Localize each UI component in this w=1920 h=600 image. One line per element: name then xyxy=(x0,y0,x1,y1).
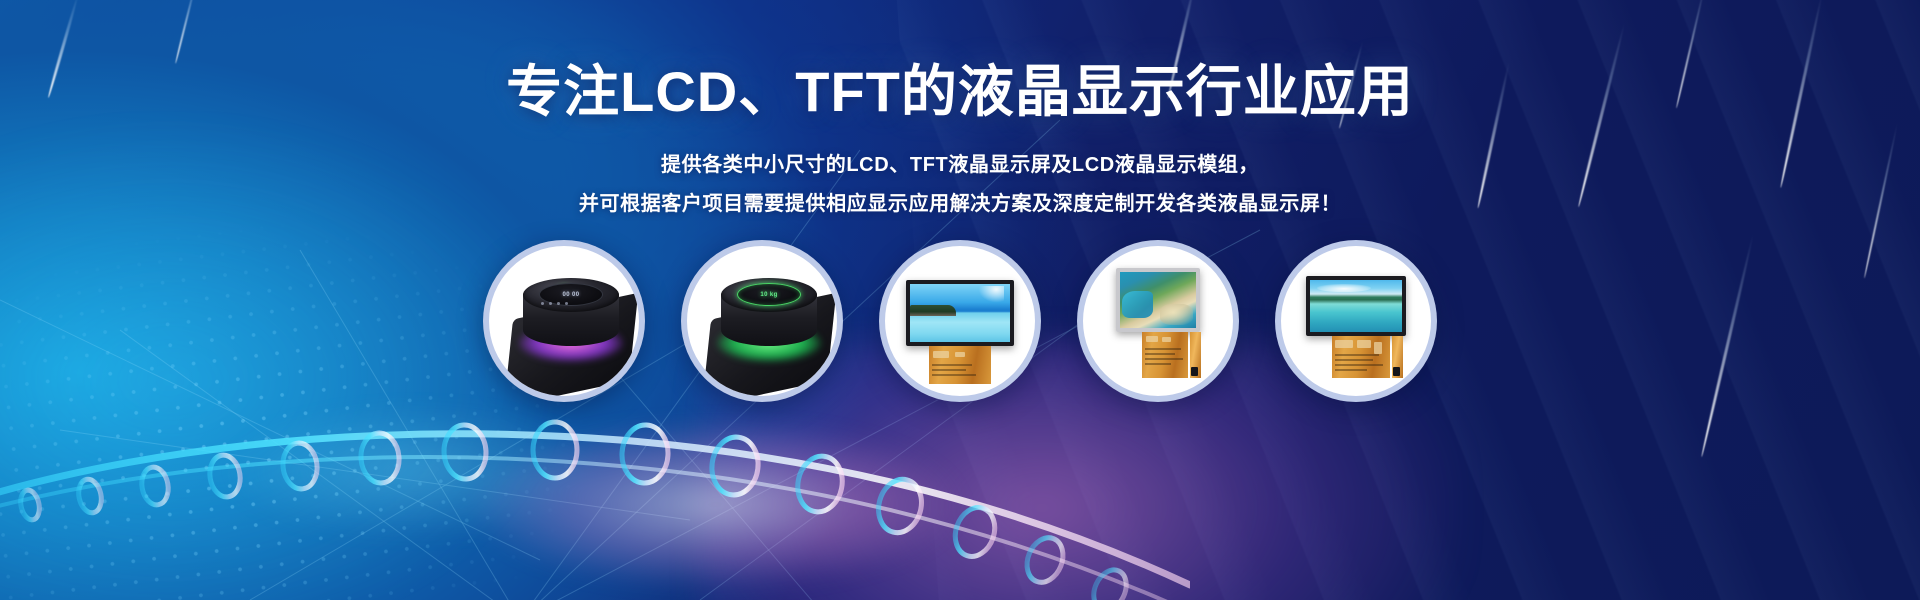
fpc-connector-tail xyxy=(1392,336,1403,378)
banner-copy: 专注LCD、TFT的液晶显示行业应用 提供各类中小尺寸的LCD、TFT液晶显示屏… xyxy=(0,62,1920,224)
lcd-screen xyxy=(906,280,1014,346)
lcd-screen xyxy=(1116,268,1200,332)
product-circle-tft-lcd-wide-lagoon[interactable] xyxy=(1275,240,1437,402)
tft-lcd-43-coast-image xyxy=(1083,246,1233,396)
fpc-ribbon xyxy=(1332,336,1390,378)
device-status-dots xyxy=(541,302,568,305)
fpc-ribbon xyxy=(1142,332,1188,378)
device-display: 10 kg xyxy=(737,283,801,306)
product-circle-round-device-green[interactable]: 10 kg xyxy=(681,240,843,402)
lcd-panel xyxy=(906,280,1014,384)
banner-subtitle: 提供各类中小尺寸的LCD、TFT液晶显示屏及LCD液晶显示模组， 并可根据客户项… xyxy=(0,146,1920,224)
screen-content-tropical-lagoon xyxy=(1310,280,1402,332)
page-title: 专注LCD、TFT的液晶显示行业应用 xyxy=(0,62,1920,122)
hero-banner: 专注LCD、TFT的液晶显示行业应用 提供各类中小尺寸的LCD、TFT液晶显示屏… xyxy=(0,0,1920,600)
fpc-connector-tail xyxy=(1190,332,1201,378)
fpc-strip xyxy=(929,346,991,384)
lcd-screen xyxy=(1306,276,1406,336)
product-circle-tft-lcd-43-coast[interactable] xyxy=(1077,240,1239,402)
tft-lcd-wide-pool-image xyxy=(885,246,1035,396)
round-device-purple-image: 00 00 xyxy=(489,246,639,396)
subtitle-line-2: 并可根据客户项目需要提供相应显示应用解决方案及深度定制开发各类液晶显示屏！ xyxy=(0,185,1920,224)
device-readout: 10 kg xyxy=(760,292,777,298)
screen-content-infinity-pool xyxy=(910,284,1010,342)
tft-lcd-wide-lagoon-image xyxy=(1281,246,1431,396)
fpc-ribbon xyxy=(929,346,991,384)
device-readout: 00 00 xyxy=(562,292,579,298)
product-showcase: 00 00 10 kg xyxy=(0,240,1920,402)
fpc-strip xyxy=(1332,336,1390,378)
screen-content-aerial-coast xyxy=(1120,272,1196,328)
lcd-panel xyxy=(1116,268,1200,378)
subtitle-line-1: 提供各类中小尺寸的LCD、TFT液晶显示屏及LCD液晶显示模组， xyxy=(0,146,1920,185)
product-circle-tft-lcd-wide-pool[interactable] xyxy=(879,240,1041,402)
lcd-panel xyxy=(1306,276,1406,378)
product-circle-round-device-purple[interactable]: 00 00 xyxy=(483,240,645,402)
fpc-strip xyxy=(1142,332,1188,378)
round-device-green-image: 10 kg xyxy=(687,246,837,396)
